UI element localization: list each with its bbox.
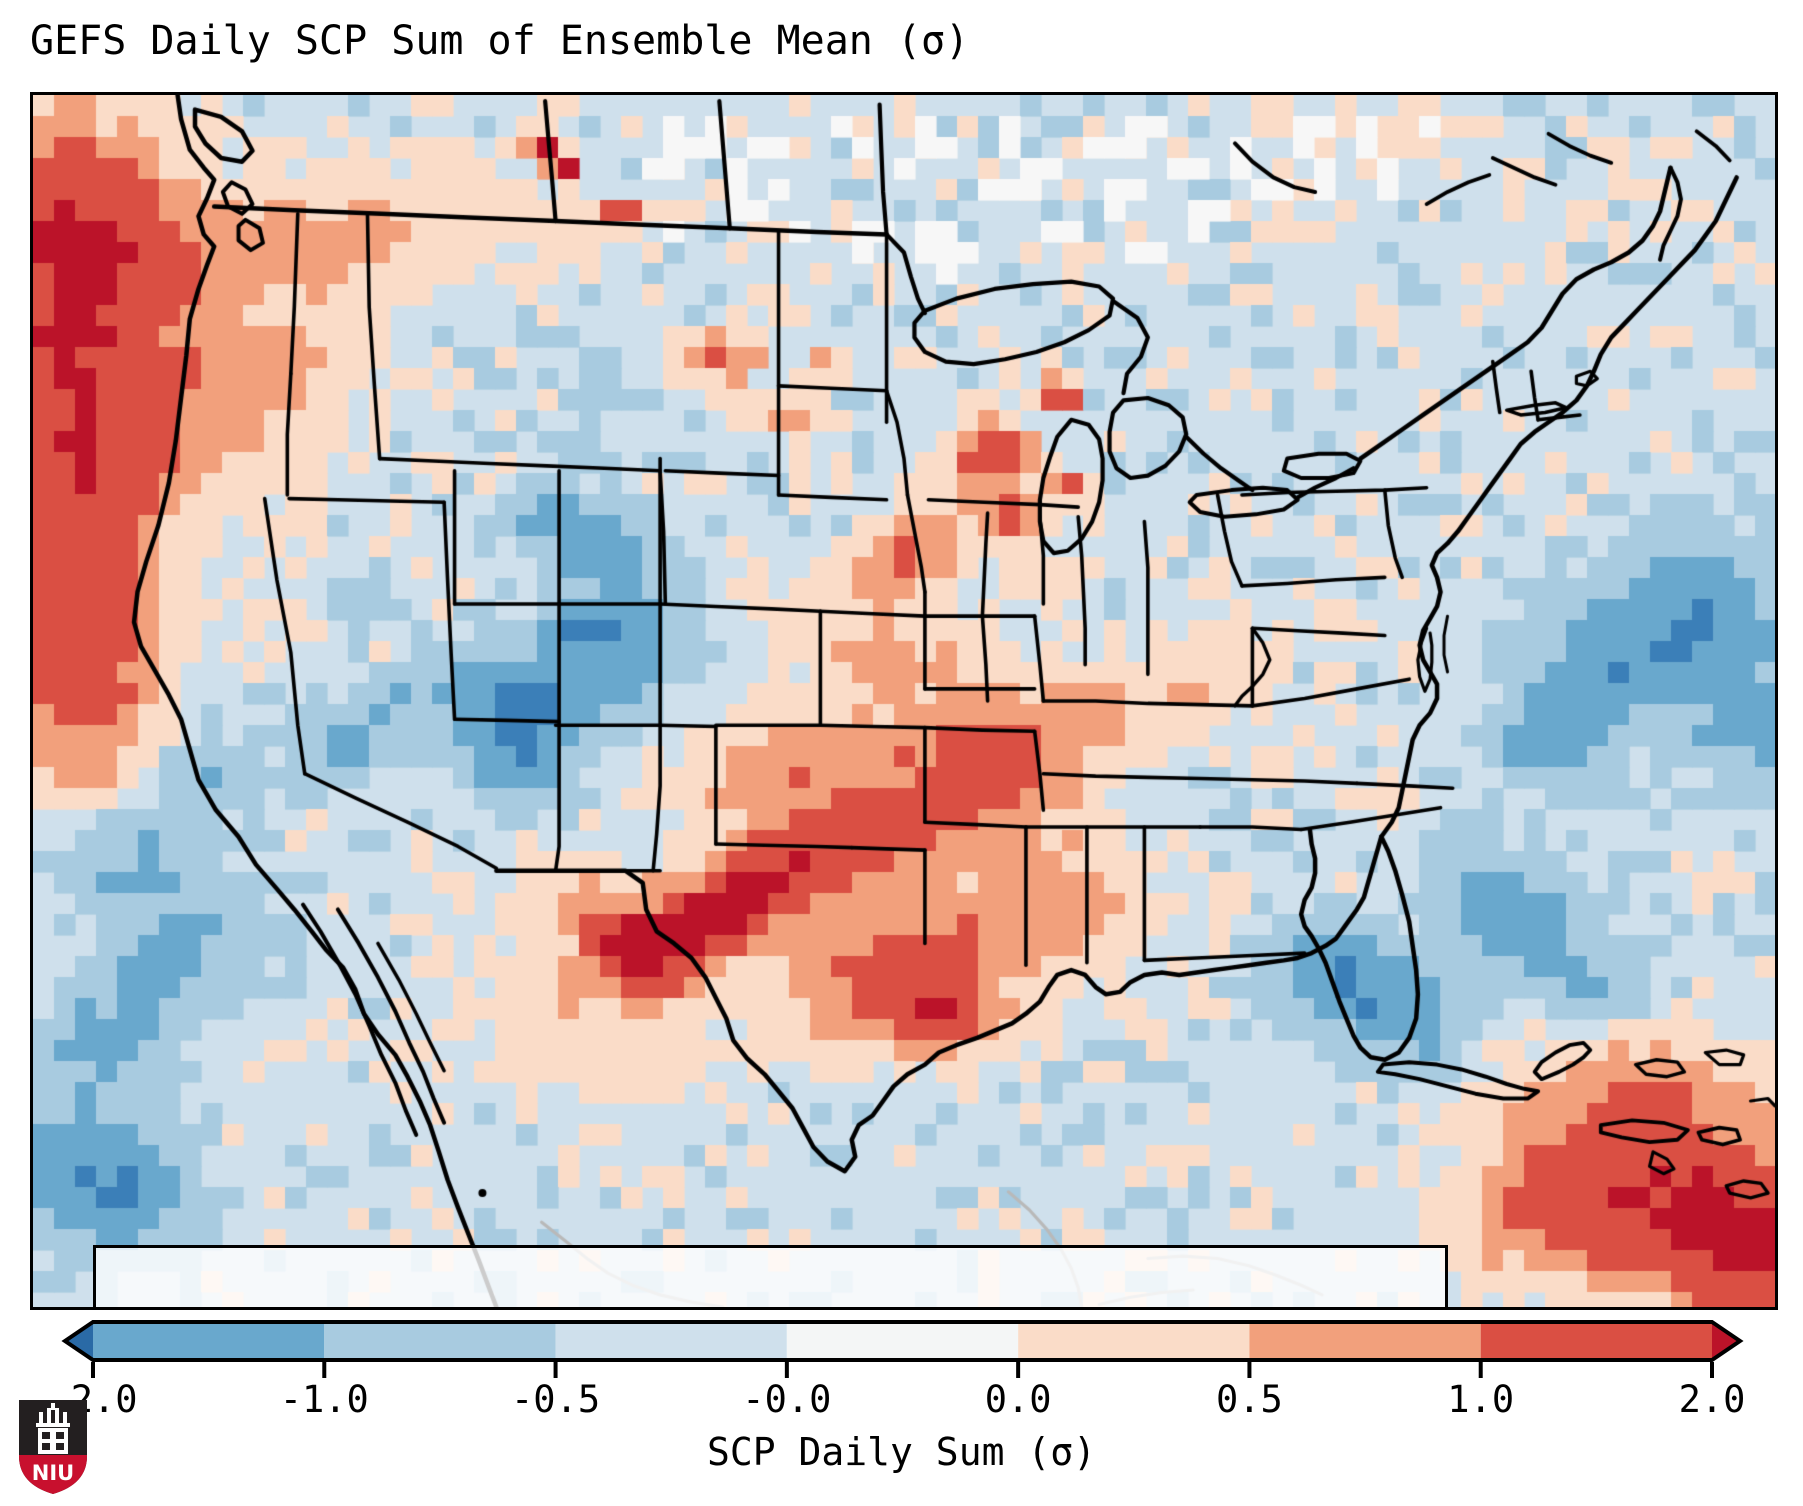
niu-logo: NIU: [16, 1398, 90, 1496]
colorbar-axis-label: SCP Daily Sum (σ): [0, 1430, 1803, 1474]
colorbar-tick-label: 0.5: [1216, 1378, 1283, 1421]
colorbar-tick-label: 0.0: [985, 1378, 1052, 1421]
map-plot-area: Valid: 2026-02-22 12:00 UTC to 2026-02-2…: [30, 92, 1778, 1310]
colorbar-under-arrow: [65, 1322, 93, 1360]
colorbar-tick-label: 1.0: [1447, 1378, 1514, 1421]
map-heatmap-canvas: [33, 95, 1775, 1307]
colorbar-tick-labels: -2.0-1.0-0.5-0.00.00.51.02.0: [0, 1378, 1803, 1426]
colorbar: [0, 1318, 1803, 1378]
colorbar-over-arrow: [1712, 1322, 1740, 1360]
colorbar-segment: [1018, 1322, 1249, 1360]
colorbar-segment: [93, 1322, 324, 1360]
colorbar-segment: [1249, 1322, 1480, 1360]
colorbar-tick-label: 2.0: [1679, 1378, 1746, 1421]
colorbar-tick-label: -0.0: [742, 1378, 831, 1421]
info-annotation-box: Valid: 2026-02-22 12:00 UTC to 2026-02-2…: [93, 1245, 1448, 1310]
page-title: GEFS Daily SCP Sum of Ensemble Mean (σ): [30, 18, 969, 64]
colorbar-segment: [324, 1322, 555, 1360]
colorbar-tick-label: -0.5: [511, 1378, 600, 1421]
figure-root: GEFS Daily SCP Sum of Ensemble Mean (σ) …: [0, 0, 1803, 1506]
colorbar-segment: [787, 1322, 1018, 1360]
niu-logo-text: NIU: [32, 1461, 74, 1485]
colorbar-segment: [1481, 1322, 1712, 1360]
colorbar-svg: [0, 1318, 1803, 1378]
colorbar-tick-label: -1.0: [280, 1378, 369, 1421]
colorbar-segment: [556, 1322, 787, 1360]
